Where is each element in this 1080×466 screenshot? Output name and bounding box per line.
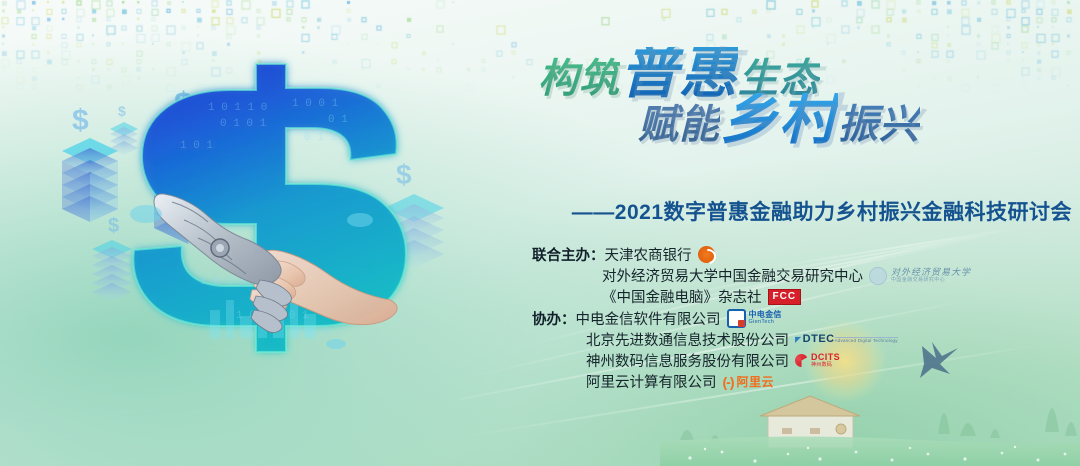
gientech-logo-en: GienTech <box>749 320 782 326</box>
coorganizer-name: 中电金信软件有限公司 <box>576 308 721 329</box>
uibe-seal-logo: 对外经济贸易大学 中国金融交易研究中心 <box>869 267 971 285</box>
svg-text:$: $ <box>118 103 126 119</box>
coorganizers-block: 协办： 中电金信软件有限公司 中电金信 GienTech 北京先进数通信息技术股… <box>532 308 898 392</box>
svg-text:$: $ <box>72 104 89 137</box>
aliyun-bracket-icon: (-) <box>723 374 734 390</box>
organizer-name: 《中国金融电脑》杂志社 <box>602 286 762 307</box>
svg-text:$: $ <box>108 215 119 237</box>
coorganizer-row: 北京先进数通信息技术股份公司 DTEC Advanced Digital Tec… <box>532 329 898 350</box>
dtec-logo-sub: Advanced Digital Technology <box>835 337 898 344</box>
uibe-logo-line2: 中国金融交易研究中心 <box>891 278 971 283</box>
dollar-handshake-graphic: $ $ <box>60 48 480 378</box>
dtec-logo-main: DTEC <box>795 334 835 345</box>
title-line-2: 赋能乡村振兴 <box>638 92 920 150</box>
title-seg-xiangcun: 乡村 <box>720 93 838 145</box>
coorganizer-row: 协办： 中电金信软件有限公司 中电金信 GienTech <box>532 308 898 329</box>
conference-banner: $ $ <box>0 0 1080 466</box>
main-title: 构筑普惠生态 赋能乡村振兴 <box>520 46 1072 154</box>
subtitle: ——2021数字普惠金融助力乡村振兴金融科技研讨会 <box>532 196 1072 226</box>
coorganizer-row: 阿里云计算有限公司 (-) 阿里云 <box>532 371 898 392</box>
title-seg-zhenxing: 振兴 <box>838 92 920 150</box>
organizers-label: 联合主办： <box>532 244 605 265</box>
organizer-row: 对外经济贸易大学中国金融交易研究中心 对外经济贸易大学 中国金融交易研究中心 <box>532 265 971 286</box>
coin-tower: $ <box>92 215 132 301</box>
coorganizer-row: 神州数码信息服务股份有限公司 DCITS 神州数码 <box>532 350 898 371</box>
title-seg-funeng: 赋能 <box>638 92 720 150</box>
svg-text:1 0 0 1: 1 0 0 1 <box>292 98 339 110</box>
uibe-seal-icon <box>869 267 887 285</box>
dcits-logo: DCITS 神州数码 <box>795 353 840 368</box>
gientech-logo: 中电金信 GienTech <box>727 309 782 328</box>
organizer-name: 天津农商银行 <box>605 244 692 265</box>
gientech-mark-icon <box>727 309 746 328</box>
organizer-row: 联合主办： 天津农商银行 <box>532 244 971 265</box>
aliyun-logo: (-) 阿里云 <box>723 373 775 390</box>
coorganizers-label: 协办： <box>532 308 576 329</box>
svg-text:0 1 1: 0 1 1 <box>304 132 337 144</box>
coin-tower: $ <box>110 103 138 155</box>
svg-text:0 1 0 1: 0 1 0 1 <box>220 118 267 130</box>
title-seg-gouzhu: 构筑 <box>538 46 620 104</box>
text-block: 构筑普惠生态 赋能乡村振兴 ——2021数字普惠金融助力乡村振兴金融科技研讨会 … <box>520 46 1072 154</box>
svg-text:1 0 1 1 0: 1 0 1 1 0 <box>208 102 267 114</box>
uibe-logo-line1: 对外经济贸易大学 <box>891 268 971 277</box>
coorganizer-name: 北京先进数通信息技术股份公司 <box>586 329 789 350</box>
svg-text:1 0 1: 1 0 1 <box>180 140 213 152</box>
coorganizer-name: 神州数码信息服务股份有限公司 <box>586 350 789 371</box>
svg-text:0 1: 0 1 <box>328 114 348 126</box>
tjrcb-swirl-logo <box>698 246 715 263</box>
dcits-logo-sub: 神州数码 <box>811 363 840 368</box>
dcits-logo-main: DCITS <box>811 353 840 362</box>
fcc-logo: FCC <box>768 289 802 305</box>
dcits-swoosh-icon <box>793 352 810 369</box>
fcc-logo-text: FCC <box>768 289 802 305</box>
gientech-logo-cn: 中电金信 <box>749 311 782 319</box>
organizer-row: 《中国金融电脑》杂志社 FCC <box>532 286 971 307</box>
dtec-logo: DTEC Advanced Digital Technology <box>795 334 898 345</box>
organizers-block: 联合主办： 天津农商银行 对外经济贸易大学中国金融交易研究中心 对外经济贸易大学… <box>532 244 971 307</box>
aliyun-logo-text: 阿里云 <box>737 373 775 390</box>
coin-tower: $ <box>62 104 118 222</box>
organizer-name: 对外经济贸易大学中国金融交易研究中心 <box>602 265 863 286</box>
coorganizer-name: 阿里云计算有限公司 <box>586 371 717 392</box>
svg-text:$: $ <box>396 159 412 190</box>
